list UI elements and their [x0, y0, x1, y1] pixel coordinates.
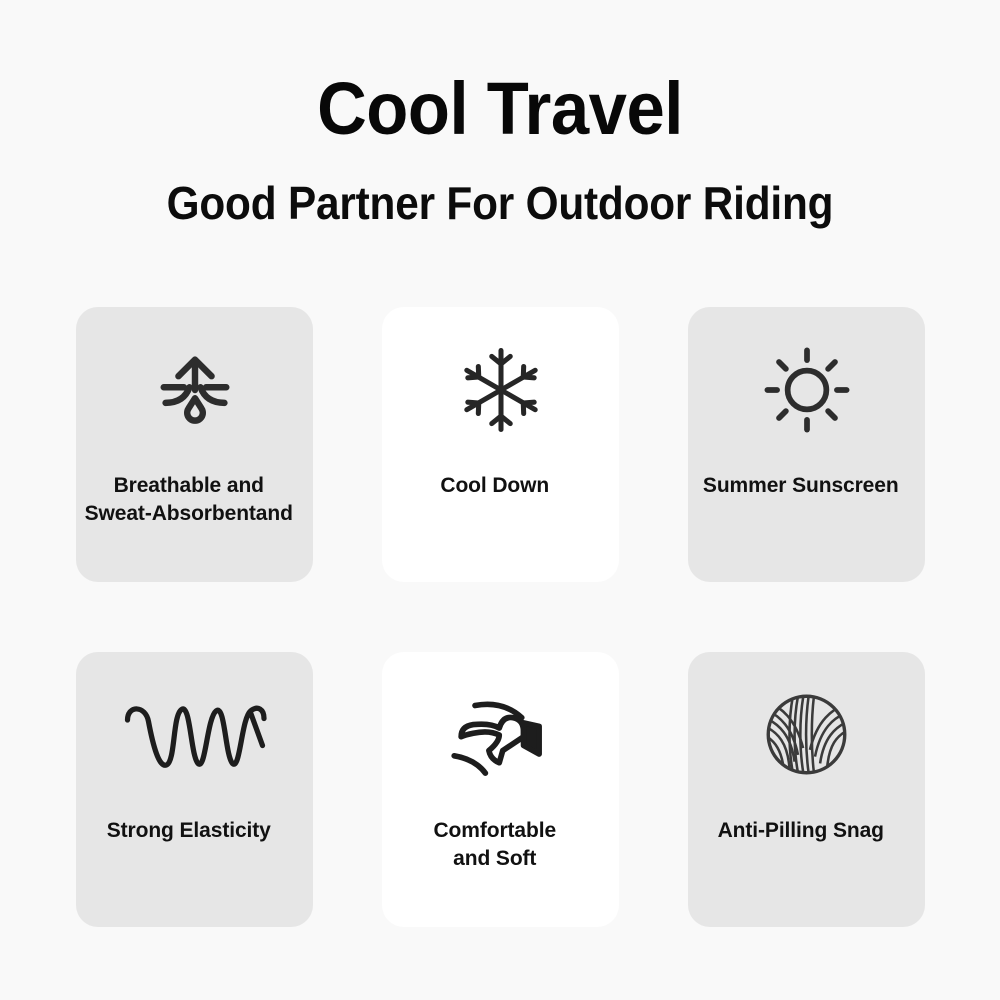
breathable-airflow-droplet-icon [76, 307, 313, 472]
feature-card-summer-sunscreen[interactable]: Summer Sunscreen [688, 307, 925, 582]
feature-card-comfortable-soft[interactable]: Comfortable and Soft [382, 652, 619, 927]
feature-card-anti-pilling[interactable]: Anti-Pilling Snag [688, 652, 925, 927]
spring-coil-icon [76, 652, 313, 817]
page-subtitle: Good Partner For Outdoor Riding [40, 180, 960, 226]
hand-touch-fabric-icon [382, 652, 619, 817]
feature-card-label: Breathable and Sweat-Absorbentand [59, 472, 319, 528]
feature-grid: Breathable and Sweat-Absorbentand Cool D… [76, 307, 925, 927]
feature-card-strong-elasticity[interactable]: Strong Elasticity [76, 652, 313, 927]
feature-card-breathable[interactable]: Breathable and Sweat-Absorbentand [76, 307, 313, 582]
feature-card-label: Anti-Pilling Snag [671, 817, 931, 845]
feature-card-cool-down[interactable]: Cool Down [382, 307, 619, 582]
feature-card-label: Summer Sunscreen [671, 472, 931, 500]
page-title: Cool Travel [35, 72, 965, 146]
header-block: Cool Travel Good Partner For Outdoor Rid… [0, 72, 1000, 226]
feature-poster: Cool Travel Good Partner For Outdoor Rid… [0, 0, 1000, 1000]
feature-card-label: Comfortable and Soft [365, 817, 625, 873]
snowflake-icon [382, 307, 619, 472]
feature-card-label: Strong Elasticity [59, 817, 319, 845]
sun-icon [688, 307, 925, 472]
feature-card-label: Cool Down [365, 472, 625, 500]
yarn-ball-icon [688, 652, 925, 817]
